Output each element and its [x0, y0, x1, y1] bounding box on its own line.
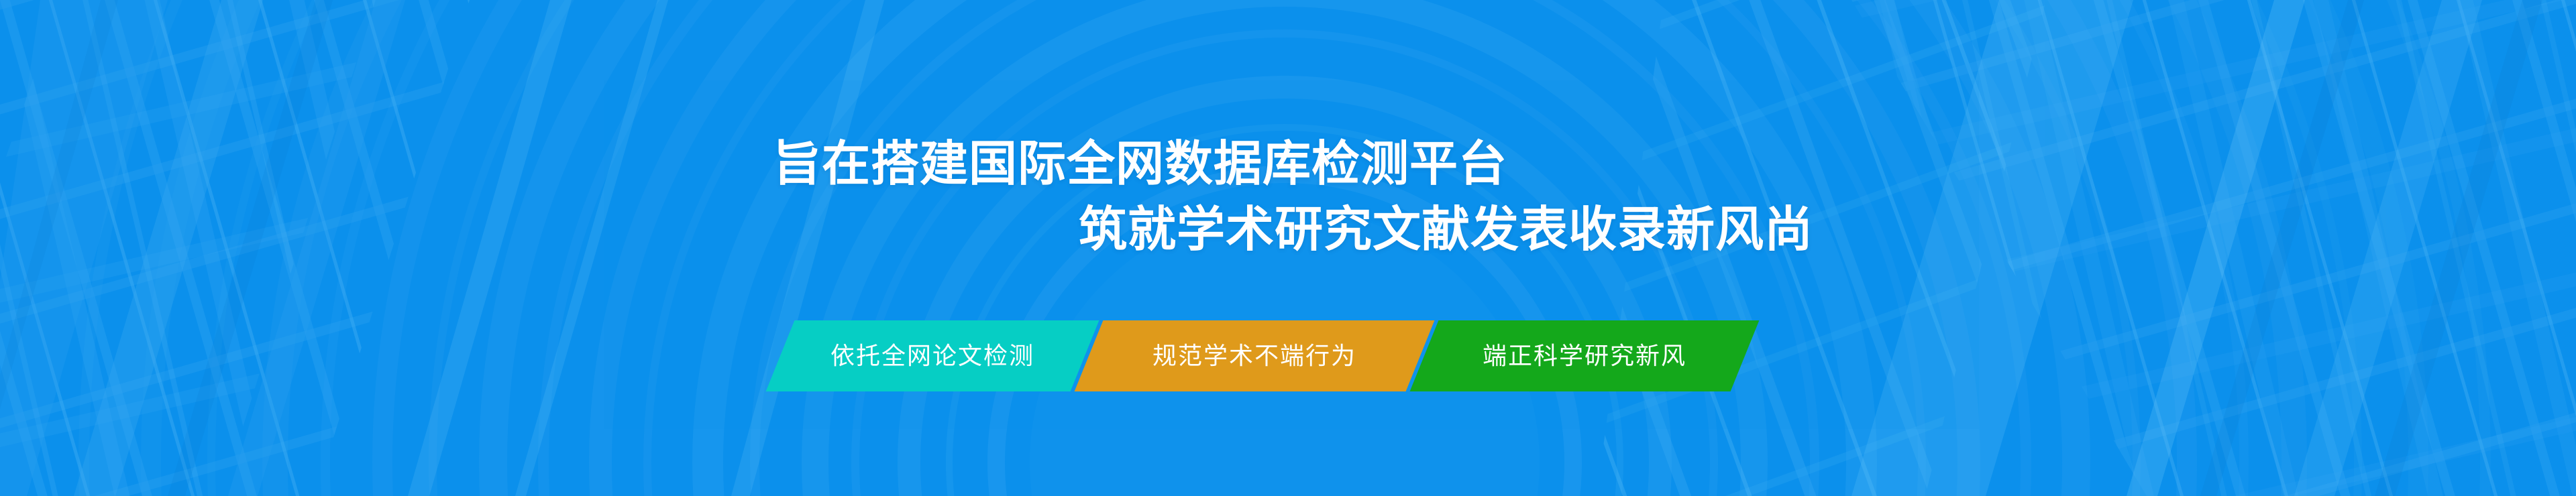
feature-badge-label: 规范学术不端行为	[1124, 344, 1385, 368]
promo-banner: 旨在搭建国际全网数据库检测平台 筑就学术研究文献发表收录新风尚 依托全网论文检测…	[0, 0, 2576, 496]
headline-line-1: 旨在搭建国际全网数据库检测平台	[0, 131, 2576, 197]
headline-line-2: 筑就学术研究文献发表收录新风尚	[0, 197, 2576, 263]
feature-badge-plagiarism-detection[interactable]: 依托全网论文检测	[766, 320, 1099, 391]
feature-badge-label: 端正科学研究新风	[1454, 344, 1715, 368]
feature-badge-label: 依托全网论文检测	[802, 344, 1063, 368]
feature-badge-strip: 依托全网论文检测 规范学术不端行为 端正科学研究新风	[780, 320, 1745, 391]
feature-badge-research-integrity[interactable]: 端正科学研究新风	[1410, 320, 1760, 391]
headline-block: 旨在搭建国际全网数据库检测平台 筑就学术研究文献发表收录新风尚	[0, 131, 2576, 263]
feature-badge-misconduct-regulation[interactable]: 规范学术不端行为	[1075, 320, 1435, 391]
